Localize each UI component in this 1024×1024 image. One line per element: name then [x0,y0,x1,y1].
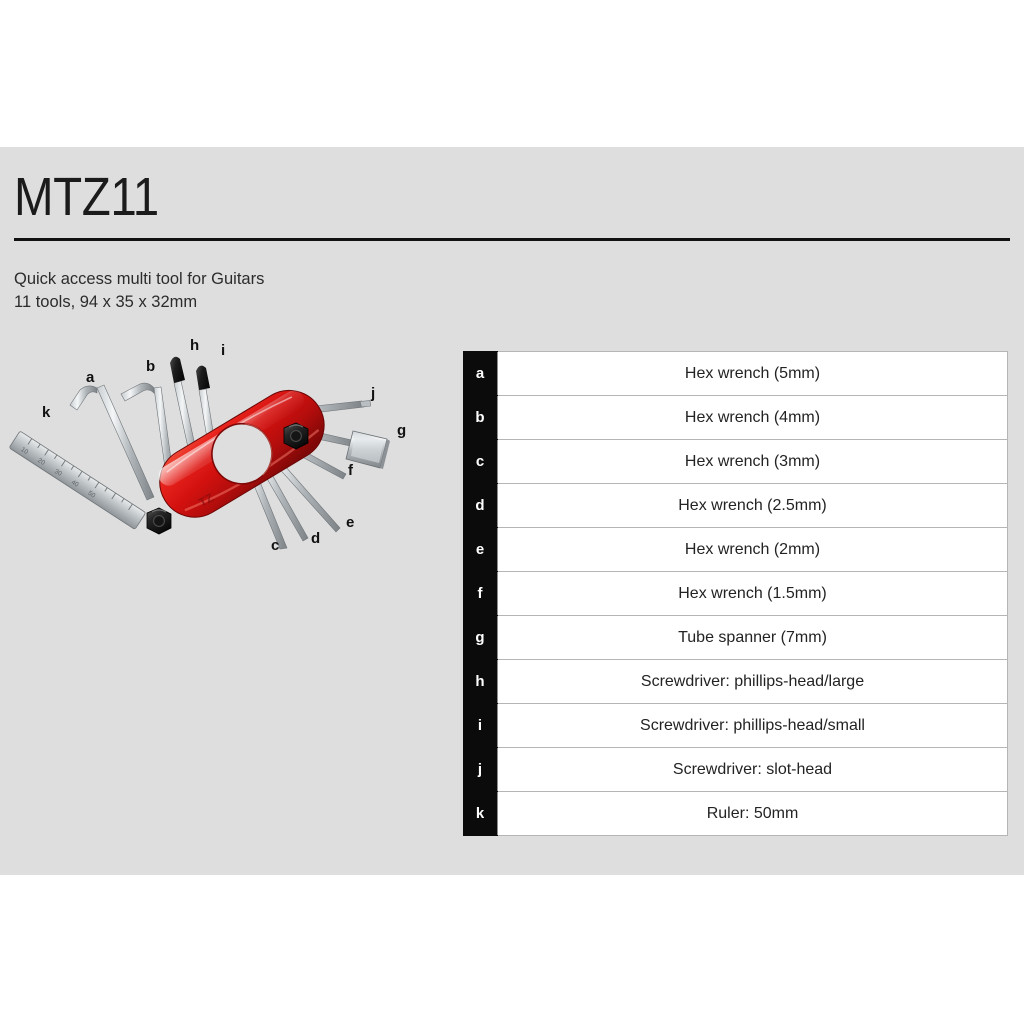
row-value: Hex wrench (2.5mm) [498,484,1008,528]
table-row: h Screwdriver: phillips-head/large [463,660,1008,704]
row-key: f [463,572,498,616]
row-key: d [463,484,498,528]
subtitle-line-1: Quick access multi tool for Guitars [14,270,264,288]
illustration-label-h: h [190,337,199,354]
illustration-label-a: a [86,369,95,386]
table-row: f Hex wrench (1.5mm) [463,572,1008,616]
table-row: a Hex wrench (5mm) [463,352,1008,396]
table-row: e Hex wrench (2mm) [463,528,1008,572]
row-key: j [463,748,498,792]
row-value: Ruler: 50mm [498,792,1008,836]
illustration-label-b: b [146,358,155,375]
illustration-label-e: e [346,514,354,531]
illustration-label-k: k [42,404,51,421]
illustration-label-f: f [348,462,354,479]
table-row: i Screwdriver: phillips-head/small [463,704,1008,748]
table-row: k Ruler: 50mm [463,792,1008,836]
row-value: Hex wrench (3mm) [498,440,1008,484]
row-value: Hex wrench (5mm) [498,352,1008,396]
row-key: i [463,704,498,748]
table-row: d Hex wrench (2.5mm) [463,484,1008,528]
illustration-label-d: d [311,530,320,547]
table-body: a Hex wrench (5mm) b Hex wrench (4mm) c … [463,352,1008,836]
table-row: b Hex wrench (4mm) [463,396,1008,440]
row-key: k [463,792,498,836]
row-key: e [463,528,498,572]
row-key: g [463,616,498,660]
illustration-label-g: g [397,422,406,439]
illustration-label-c: c [271,537,279,554]
row-value: Screwdriver: phillips-head/large [498,660,1008,704]
table-row: c Hex wrench (3mm) [463,440,1008,484]
subtitle-line-2: 11 tools, 94 x 35 x 32mm [14,291,434,314]
row-value: Hex wrench (4mm) [498,396,1008,440]
row-value: Hex wrench (1.5mm) [498,572,1008,616]
product-illustration: 10 20 30 40 50 [8,335,438,580]
pivot-bolt-top [284,423,308,449]
title-divider [14,238,1010,241]
row-value: Screwdriver: phillips-head/small [498,704,1008,748]
row-key: a [463,352,498,396]
table-row: j Screwdriver: slot-head [463,748,1008,792]
row-value: Hex wrench (2mm) [498,528,1008,572]
product-subtitle: Quick access multi tool for Guitars 11 t… [14,268,434,314]
row-key: c [463,440,498,484]
illustration-label-i: i [221,342,225,359]
table-row: g Tube spanner (7mm) [463,616,1008,660]
illustration-label-j: j [370,385,375,402]
pivot-bolt-bottom [147,508,171,534]
row-value: Screwdriver: slot-head [498,748,1008,792]
row-value: Tube spanner (7mm) [498,616,1008,660]
page-title: MTZ11 [14,168,159,226]
product-spec-sheet: MTZ11 Quick access multi tool for Guitar… [0,0,1024,1024]
row-key: h [463,660,498,704]
tool-contents-table: a Hex wrench (5mm) b Hex wrench (4mm) c … [463,351,1008,836]
row-key: b [463,396,498,440]
